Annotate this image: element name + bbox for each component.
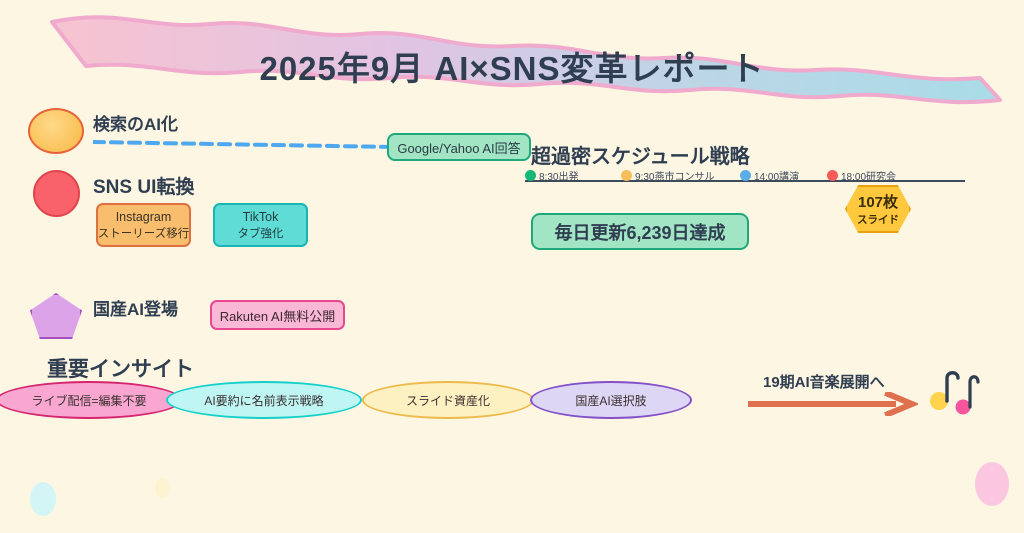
insight-pill-1[interactable]: AI要約に名前表示戦略 xyxy=(166,381,362,419)
card-tiktok[interactable]: TikTok タブ強化 xyxy=(213,203,308,247)
timeline-dot-2 xyxy=(740,170,751,181)
timeline-label-0: 8:30出発 xyxy=(539,168,578,183)
timeline-dot-3 xyxy=(827,170,838,181)
timeline-item-0[interactable]: 8:30出発 xyxy=(525,168,578,183)
badge-slide-label: スライド xyxy=(857,212,899,227)
deco-circle-cyan xyxy=(30,482,56,516)
timeline-item-3[interactable]: 18:00研究会 xyxy=(827,168,896,183)
timeline-label-2: 14:00講演 xyxy=(754,168,799,183)
badge-slide-count: 107枚 スライド xyxy=(845,185,911,233)
timeline-label-3: 18:00研究会 xyxy=(841,168,896,183)
infographic-canvas: 2025年9月 AI×SNS変革レポート 検索のAI化 Google/Yahoo… xyxy=(0,0,1024,533)
heading-insights: 重要インサイト xyxy=(47,353,194,383)
arrow-right-icon xyxy=(746,392,918,416)
insight-pill-2[interactable]: スライド資産化 xyxy=(362,381,534,419)
timeline-dot-1 xyxy=(621,170,632,181)
insight-pill-3[interactable]: 国産AI選択肢 xyxy=(530,381,692,419)
domestic-ai-pentagon-icon xyxy=(30,293,82,339)
tag-google-yahoo[interactable]: Google/Yahoo AI回答 xyxy=(387,133,531,161)
heading-schedule: 超過密スケジュール戦略 xyxy=(531,140,750,169)
heading-domestic-ai: 国産AI登場 xyxy=(93,295,178,320)
heading-search: 検索のAI化 xyxy=(93,110,178,135)
search-ellipse-icon xyxy=(28,108,84,154)
card-tiktok-title: TikTok xyxy=(243,210,279,224)
highlight-daily-streak: 毎日更新6,239日達成 xyxy=(531,213,749,250)
card-instagram[interactable]: Instagram ストーリーズ移行 xyxy=(96,203,191,247)
timeline-label-1: 9:30燕市コンサル xyxy=(635,168,714,183)
heading-sns: SNS UI転換 xyxy=(93,172,194,199)
card-tiktok-subtitle: タブ強化 xyxy=(238,225,284,241)
dashed-connector-line xyxy=(93,138,393,150)
insight-pill-0[interactable]: ライブ配信=編集不要 xyxy=(0,381,182,419)
timeline-item-1[interactable]: 9:30燕市コンサル xyxy=(621,168,714,183)
page-title: 2025年9月 AI×SNS変革レポート xyxy=(0,42,1024,90)
badge-slide-number: 107枚 xyxy=(858,191,898,212)
tag-rakuten-ai[interactable]: Rakuten AI無料公開 xyxy=(210,300,345,330)
deco-circle-pink xyxy=(975,462,1009,506)
next-step-label: 19期AI音楽展開へ xyxy=(763,371,885,392)
sns-circle-icon xyxy=(33,170,80,217)
card-instagram-title: Instagram xyxy=(116,210,172,224)
deco-circle-yellow xyxy=(155,478,169,498)
timeline-dot-0 xyxy=(525,170,536,181)
card-instagram-subtitle: ストーリーズ移行 xyxy=(98,225,189,241)
music-notes-icon xyxy=(928,368,980,416)
timeline-item-2[interactable]: 14:00講演 xyxy=(740,168,799,183)
